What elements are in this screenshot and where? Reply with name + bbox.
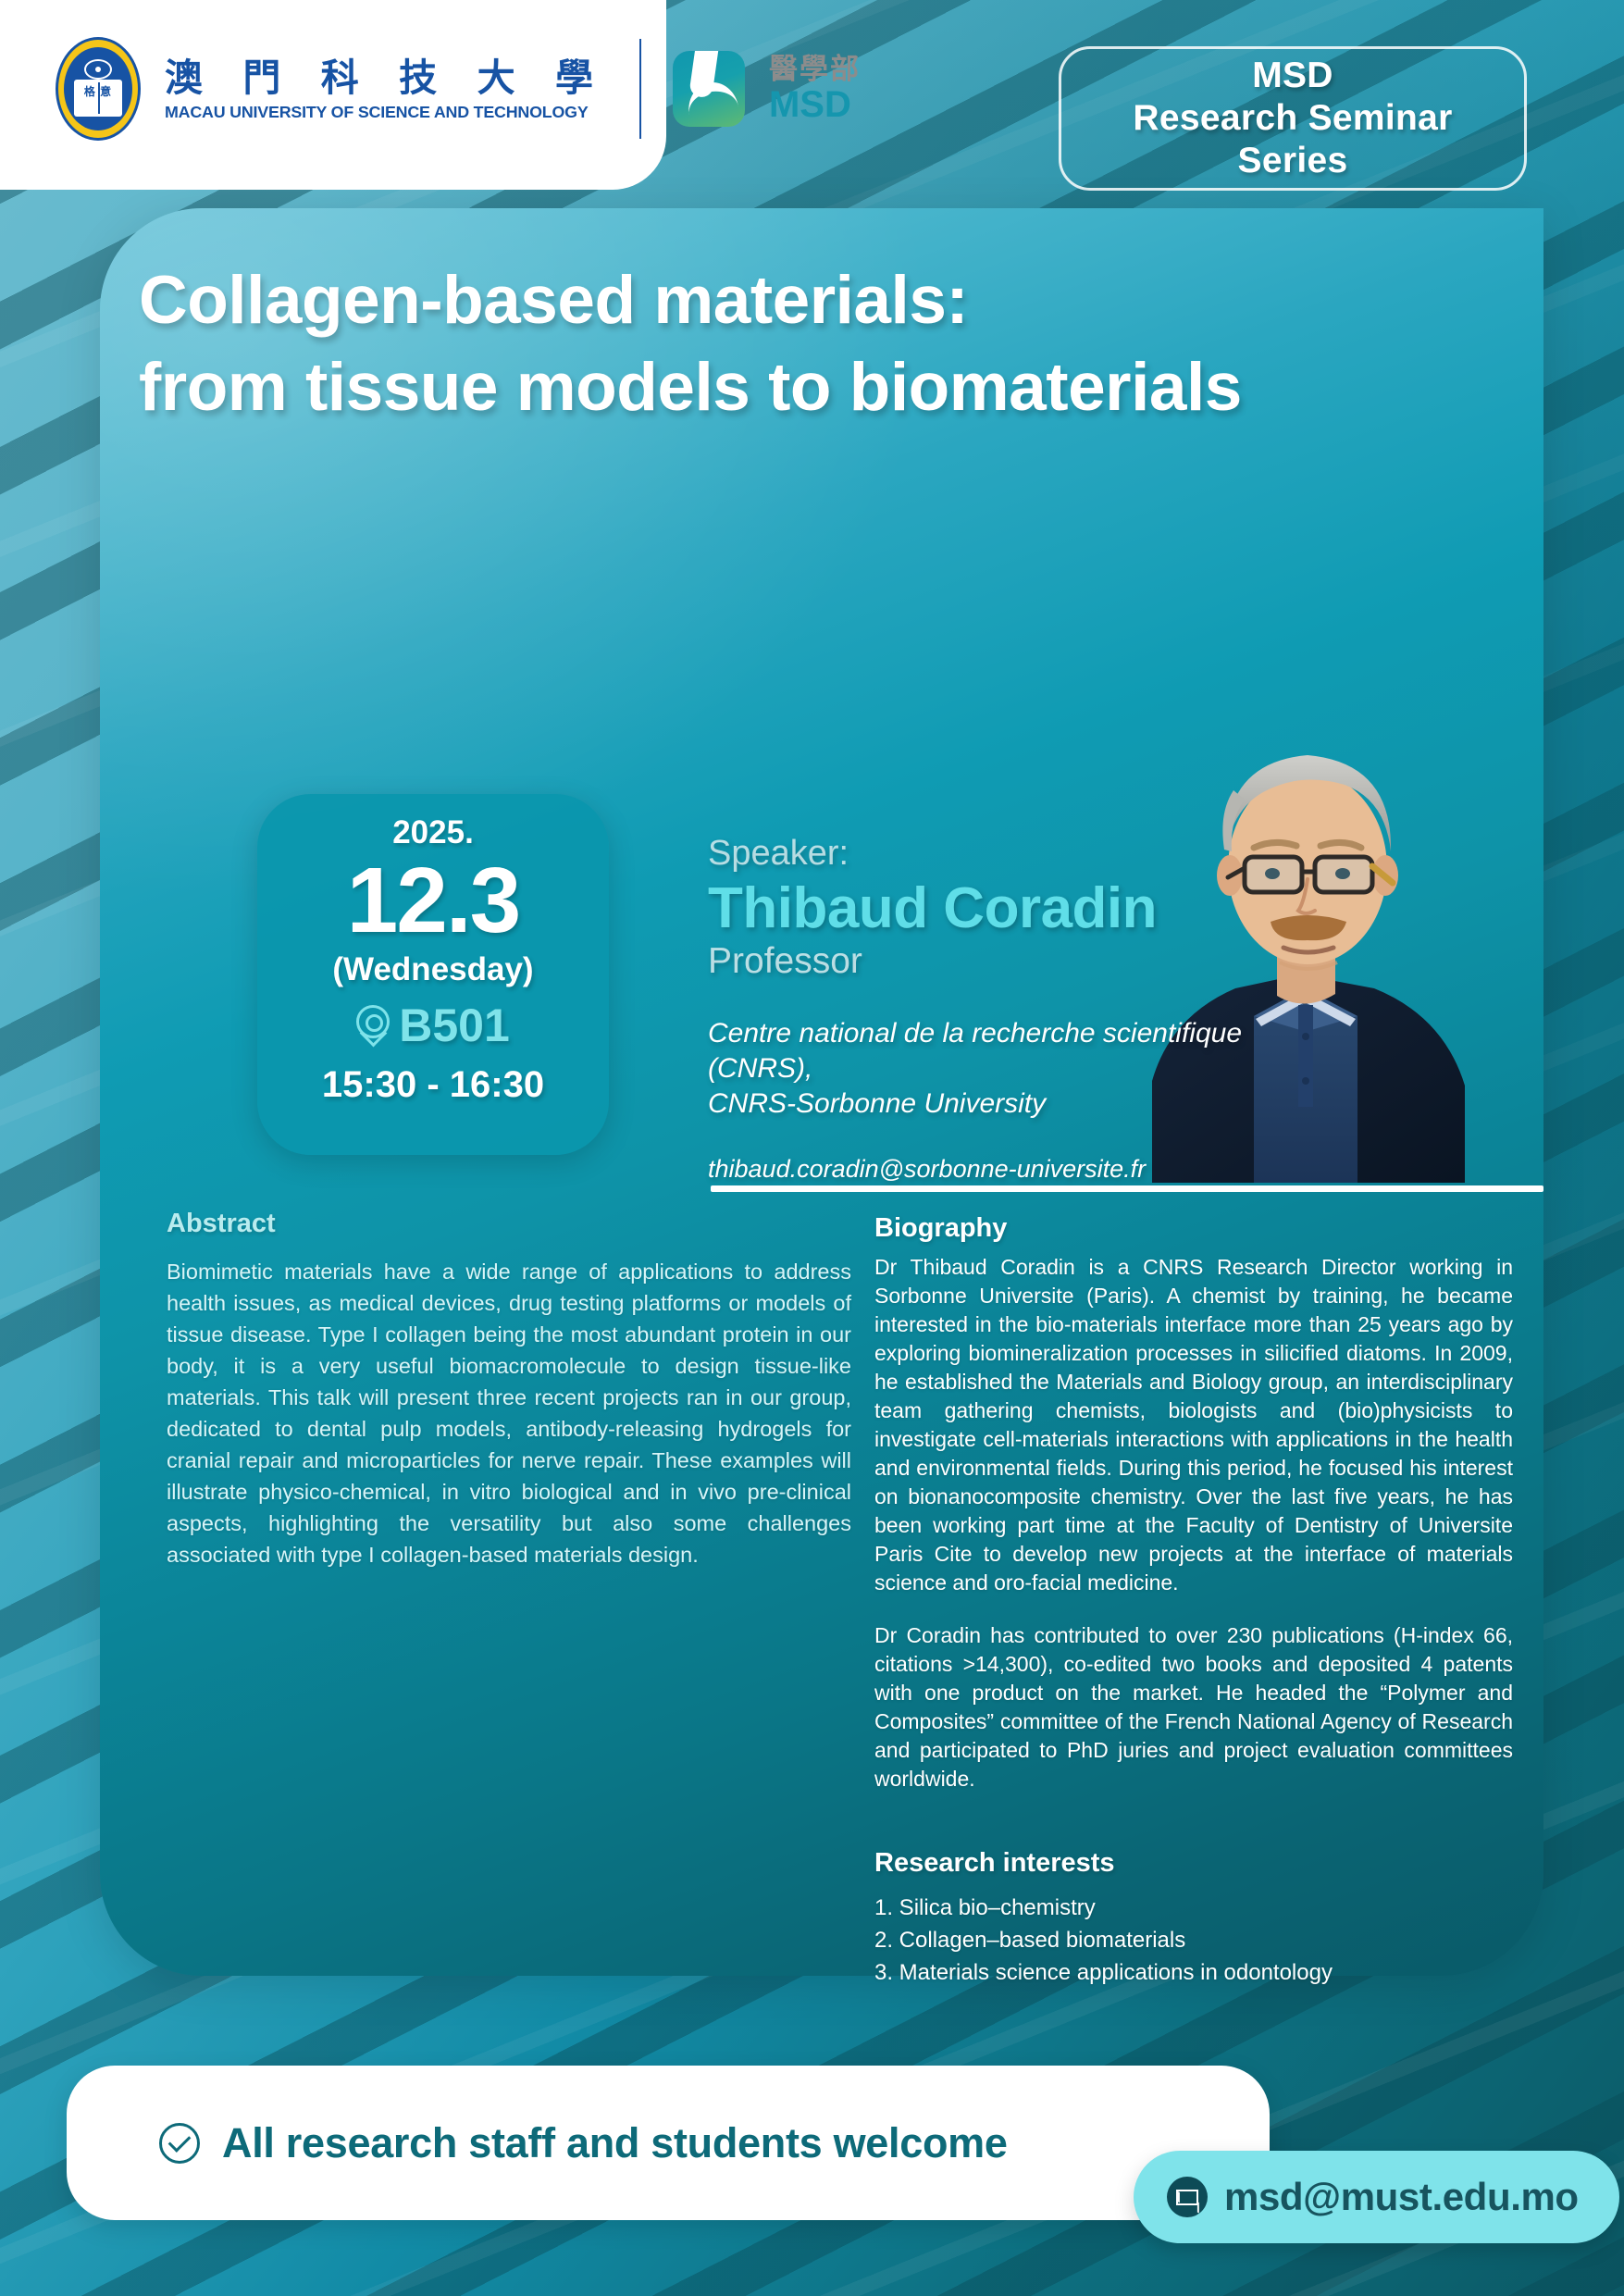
biography-heading: Biography	[874, 1212, 1513, 1244]
event-year: 2025.	[392, 814, 474, 851]
must-seal-icon: 格 意	[56, 37, 141, 141]
university-name-en: MACAU UNIVERSITY OF SCIENCE AND TECHNOLO…	[165, 103, 617, 122]
abstract-section: Abstract Biomimetic materials have a wid…	[167, 1208, 851, 1570]
logo-row: 格 意 澳 門 科 技 大 學 MACAU UNIVERSITY OF SCIE…	[56, 37, 861, 141]
biography-paragraph-2: Dr Coradin has contributed to over 230 p…	[874, 1621, 1513, 1793]
footer-welcome-text: All research staff and students welcome	[222, 2119, 1008, 2167]
contact-email-text: msd@must.edu.mo	[1224, 2175, 1579, 2219]
title-line-1: Collagen-based materials:	[139, 263, 968, 338]
list-item: 3. Materials science applications in odo…	[874, 1956, 1513, 1989]
seminar-title: Collagen-based materials: from tissue mo…	[139, 257, 1453, 431]
event-weekday: (Wednesday)	[332, 951, 533, 988]
biography-paragraph-1: Dr Thibaud Coradin is a CNRS Research Di…	[874, 1253, 1513, 1597]
msd-wordmark: 醫學部 MSD	[769, 54, 861, 124]
event-time: 15:30 - 16:30	[322, 1064, 544, 1105]
speaker-role: Professor	[708, 940, 1300, 983]
speaker-name: Thibaud Coradin	[708, 875, 1300, 942]
faculty-name-cn: 醫學部	[769, 54, 861, 85]
mail-icon	[1167, 2177, 1208, 2217]
event-venue-row: B501	[356, 1001, 510, 1049]
seminar-poster: 格 意 澳 門 科 技 大 學 MACAU UNIVERSITY OF SCIE…	[0, 0, 1624, 2296]
speaker-block: Speaker: Thibaud Coradin Professor Centr…	[708, 833, 1300, 1185]
series-badge-line2: Research Seminar	[1133, 97, 1452, 140]
faculty-name-en: MSD	[769, 85, 861, 124]
research-interests-heading: Research interests	[874, 1847, 1513, 1879]
event-venue: B501	[399, 1001, 510, 1049]
check-circle-icon	[159, 2123, 200, 2164]
speaker-label: Speaker:	[708, 833, 1300, 874]
must-wordmark: 澳 門 科 技 大 學 MACAU UNIVERSITY OF SCIENCE …	[165, 56, 608, 122]
university-name-cn: 澳 門 科 技 大 學	[165, 56, 608, 99]
series-badge: MSD Research Seminar Series	[1059, 46, 1527, 191]
section-divider	[711, 1185, 1543, 1192]
speaker-affiliation-line-2: CNRS-Sorbonne University	[708, 1086, 1300, 1122]
research-interests-list: 1. Silica bio–chemistry 2. Collagen–base…	[874, 1892, 1513, 1989]
series-badge-line1: MSD	[1252, 55, 1333, 97]
msd-logo-icon	[673, 51, 745, 127]
location-pin-icon	[356, 1005, 388, 1046]
speaker-affiliation: Centre national de la recherche scientif…	[708, 1016, 1300, 1122]
event-day: 12.3	[347, 853, 520, 948]
logo-divider	[639, 39, 641, 139]
abstract-heading: Abstract	[167, 1208, 851, 1239]
biography-section: Biography Dr Thibaud Coradin is a CNRS R…	[874, 1212, 1513, 1989]
seal-motto-top: 格 意	[56, 85, 141, 98]
footer-welcome-bar: All research staff and students welcome	[67, 2066, 1270, 2220]
abstract-text: Biomimetic materials have a wide range o…	[167, 1256, 851, 1570]
biography-text: Dr Thibaud Coradin is a CNRS Research Di…	[874, 1253, 1513, 1793]
contact-email-pill[interactable]: msd@must.edu.mo	[1134, 2151, 1619, 2243]
speaker-affiliation-line-1: Centre national de la recherche scientif…	[708, 1016, 1300, 1086]
list-item: 2. Collagen–based biomaterials	[874, 1924, 1513, 1956]
event-date-card: 2025. 12.3 (Wednesday) B501 15:30 - 16:3…	[257, 794, 609, 1155]
title-line-2: from tissue models to biomaterials	[139, 344, 1453, 431]
list-item: 1. Silica bio–chemistry	[874, 1892, 1513, 1924]
series-badge-line3: Series	[1238, 140, 1348, 182]
speaker-email[interactable]: thibaud.coradin@sorbonne-universite.fr	[708, 1153, 1300, 1185]
